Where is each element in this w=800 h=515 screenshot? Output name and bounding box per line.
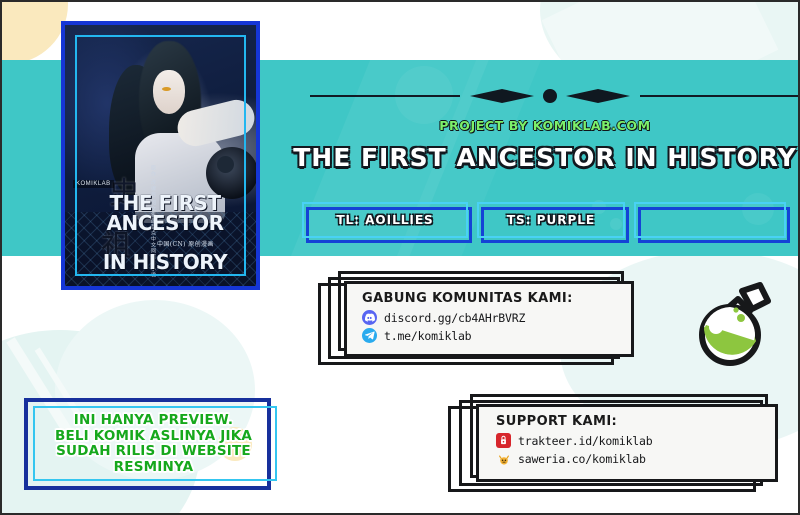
cover-chinese-credit: 中国(CN) 原创漫画	[157, 239, 214, 248]
telegram-icon	[362, 328, 377, 343]
cover-title-line-2: IN HISTORY	[71, 252, 259, 272]
cover-character-face	[153, 70, 185, 114]
support-link-text: trakteer.id/komiklab	[518, 434, 652, 448]
preview-notice-banner: INI HANYA PREVIEW. BELI KOMIK ASLINYA JI…	[24, 398, 277, 490]
saweria-icon	[496, 451, 511, 466]
flask-icon	[688, 281, 780, 369]
support-link-saweria[interactable]: saweria.co/komiklab	[496, 451, 652, 466]
credit-chip-label	[634, 202, 786, 238]
project-credit-text: PROJECT BY KOMIKLAB.COM	[290, 118, 800, 133]
credit-chip-label: TS: PURPLE	[477, 202, 625, 238]
support-info-box: SUPPORT KAMI: trakteer.id/komiklab	[448, 394, 778, 494]
credit-chip-translator[interactable]: TL: AOILLIES	[302, 202, 468, 238]
page-title: The First Ancestor in History	[290, 143, 800, 172]
support-link-text: saweria.co/komiklab	[518, 452, 646, 466]
community-link-discord[interactable]: discord.gg/cb4AHrBVRZ	[362, 310, 573, 325]
credit-chip-typesetter[interactable]: TS: PURPLE	[477, 202, 625, 238]
cover-character-eye	[162, 87, 171, 91]
discord-icon	[362, 310, 377, 325]
community-info-box: GABUNG KOMUNITAS KAMI: discord.gg/cb4AHr…	[318, 271, 634, 367]
divider-rule-left	[310, 95, 460, 97]
credits-page: PROJECT BY KOMIKLAB.COM The First Ancest…	[0, 0, 800, 515]
cover-orb-highlight	[217, 156, 234, 173]
support-link-trakteer[interactable]: trakteer.id/komiklab	[496, 433, 652, 448]
preview-notice-text: INI HANYA PREVIEW. BELI KOMIK ASLINYA JI…	[34, 408, 273, 480]
cover-title-line-1: THE FIRST ANCESTOR	[71, 193, 259, 233]
trakteer-icon	[496, 433, 511, 448]
manga-cover-art: 史 祖 原作 改编自 阅文集团起点中文网同名小说 KOMIKLAB THE FI…	[61, 21, 260, 290]
credit-chip-label: TL: AOILLIES	[302, 202, 468, 238]
divider-rule-right	[640, 95, 800, 97]
support-heading: SUPPORT KAMI:	[496, 414, 652, 429]
community-heading: GABUNG KOMUNITAS KAMI:	[362, 291, 573, 306]
support-content: SUPPORT KAMI: trakteer.id/komiklab	[496, 414, 652, 466]
community-link-text: t.me/komiklab	[384, 329, 471, 343]
community-link-text: discord.gg/cb4AHrBVRZ	[384, 311, 525, 325]
community-content: GABUNG KOMUNITAS KAMI: discord.gg/cb4AHr…	[362, 291, 573, 343]
credit-chip-empty[interactable]	[634, 202, 786, 238]
diamond-divider-icon	[460, 86, 640, 106]
community-link-telegram[interactable]: t.me/komiklab	[362, 328, 573, 343]
cover-publisher-badge: KOMIKLAB	[73, 180, 114, 188]
bg-circle-cream-top-left	[0, 0, 68, 64]
